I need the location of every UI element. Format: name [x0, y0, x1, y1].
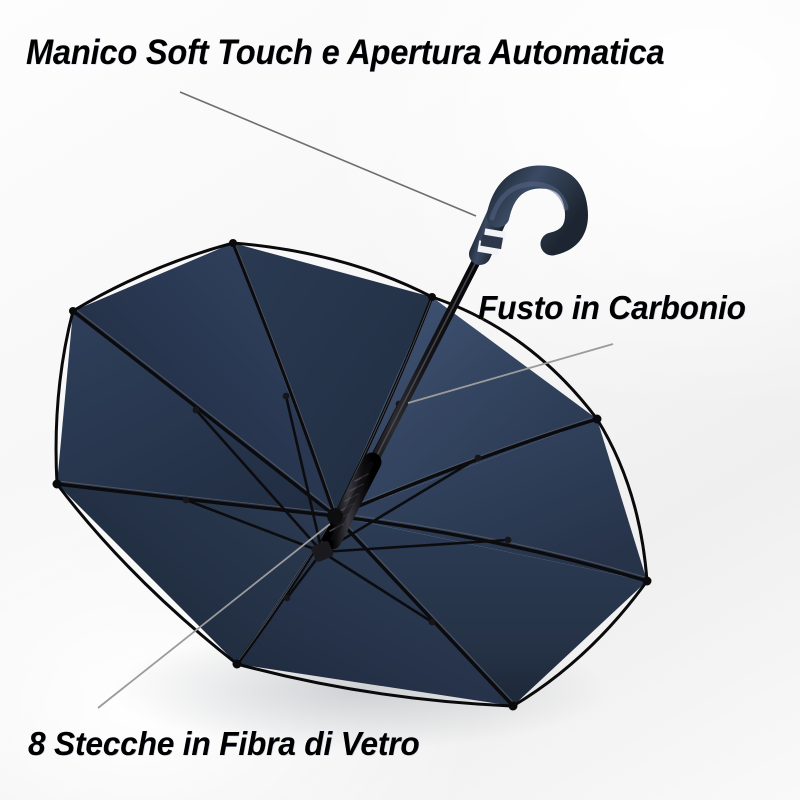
- handle-crook: [498, 177, 577, 244]
- umbrella-illustration: [0, 0, 800, 800]
- leader-line-handle: [180, 92, 476, 216]
- handle-band-gap: [488, 236, 495, 247]
- umbrella-handle: [480, 177, 577, 254]
- callout-label-shaft: Fusto in Carbonio: [478, 289, 746, 327]
- infographic-canvas: Manico Soft Touch e Apertura Automatica …: [0, 0, 800, 800]
- callout-label-ribs: 8 Stecche in Fibra di Vetro: [28, 725, 420, 763]
- rib-hub: [327, 508, 343, 524]
- callout-label-handle: Manico Soft Touch e Apertura Automatica: [26, 33, 664, 73]
